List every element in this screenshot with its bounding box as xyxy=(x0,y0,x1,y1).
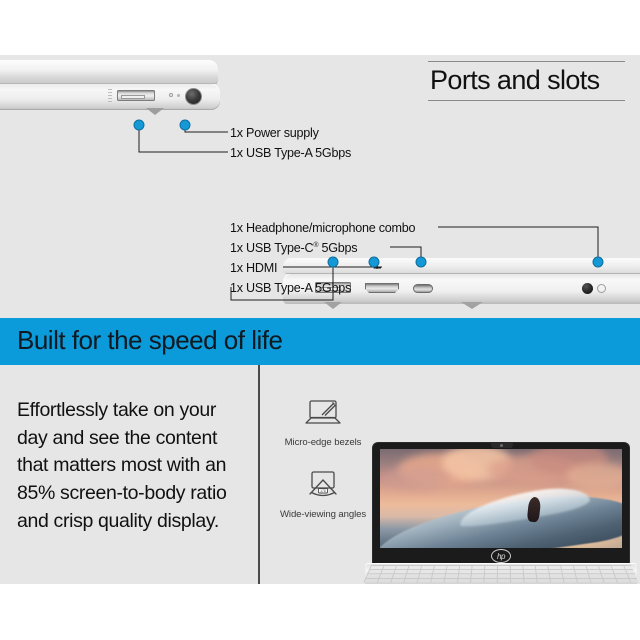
keyboard xyxy=(363,565,638,583)
callout-hdmi: 1x HDMI xyxy=(230,261,277,275)
lead-copy-text: Effortlessly take on your day and see th… xyxy=(17,397,245,535)
hero-laptop-image: hp xyxy=(373,443,629,584)
screen-bottom-bezel: hp xyxy=(373,548,629,564)
feature-caption: Wide-viewing angles xyxy=(276,508,370,521)
callout-usb-c-text: 1x USB Type-C xyxy=(230,241,313,255)
micro-edge-bezel-icon xyxy=(276,395,370,431)
wide-viewing-angle-icon: 178 xyxy=(276,467,370,503)
callout-usb-c-speed: 5Gbps xyxy=(318,241,357,255)
laptop-lid xyxy=(373,443,629,564)
svg-text:178: 178 xyxy=(320,489,326,493)
callout-usb-a-top: 1x USB Type-A 5Gbps xyxy=(230,146,351,160)
product-sheet-page: Ports and slots xyxy=(0,55,640,584)
cloud xyxy=(566,463,622,489)
feature-caption: Micro-edge bezels xyxy=(276,436,370,449)
callout-label-group: 1x Power supply 1x USB Type-A 5Gbps 1x H… xyxy=(0,55,640,318)
callout-headphone-mic-combo: 1x Headphone/microphone combo xyxy=(230,221,415,235)
callout-power-supply: 1x Power supply xyxy=(230,126,319,140)
hp-logo-icon: hp xyxy=(491,549,511,563)
banner-heading: Built for the speed of life xyxy=(17,325,282,356)
webcam-icon xyxy=(500,444,503,447)
ports-and-slots-section: Ports and slots xyxy=(0,55,640,318)
feature-wide-viewing-angles: 178 Wide-viewing angles xyxy=(276,467,370,521)
laptop-keyboard-deck xyxy=(365,563,637,584)
feature-icon-list: Micro-edge bezels 178 Wide-viewing angle… xyxy=(276,395,370,539)
speed-of-life-banner: Built for the speed of life xyxy=(0,318,640,365)
callout-usb-c: 1x USB Type-C® 5Gbps xyxy=(230,241,357,255)
callout-usb-a-bottom: 1x USB Type-A 5Gbps xyxy=(230,281,351,295)
display-features-section: Effortlessly take on your day and see th… xyxy=(0,365,640,584)
section-divider xyxy=(258,365,260,584)
feature-micro-edge-bezels: Micro-edge bezels xyxy=(276,395,370,449)
cloud xyxy=(380,467,450,491)
laptop-screen xyxy=(380,449,622,548)
